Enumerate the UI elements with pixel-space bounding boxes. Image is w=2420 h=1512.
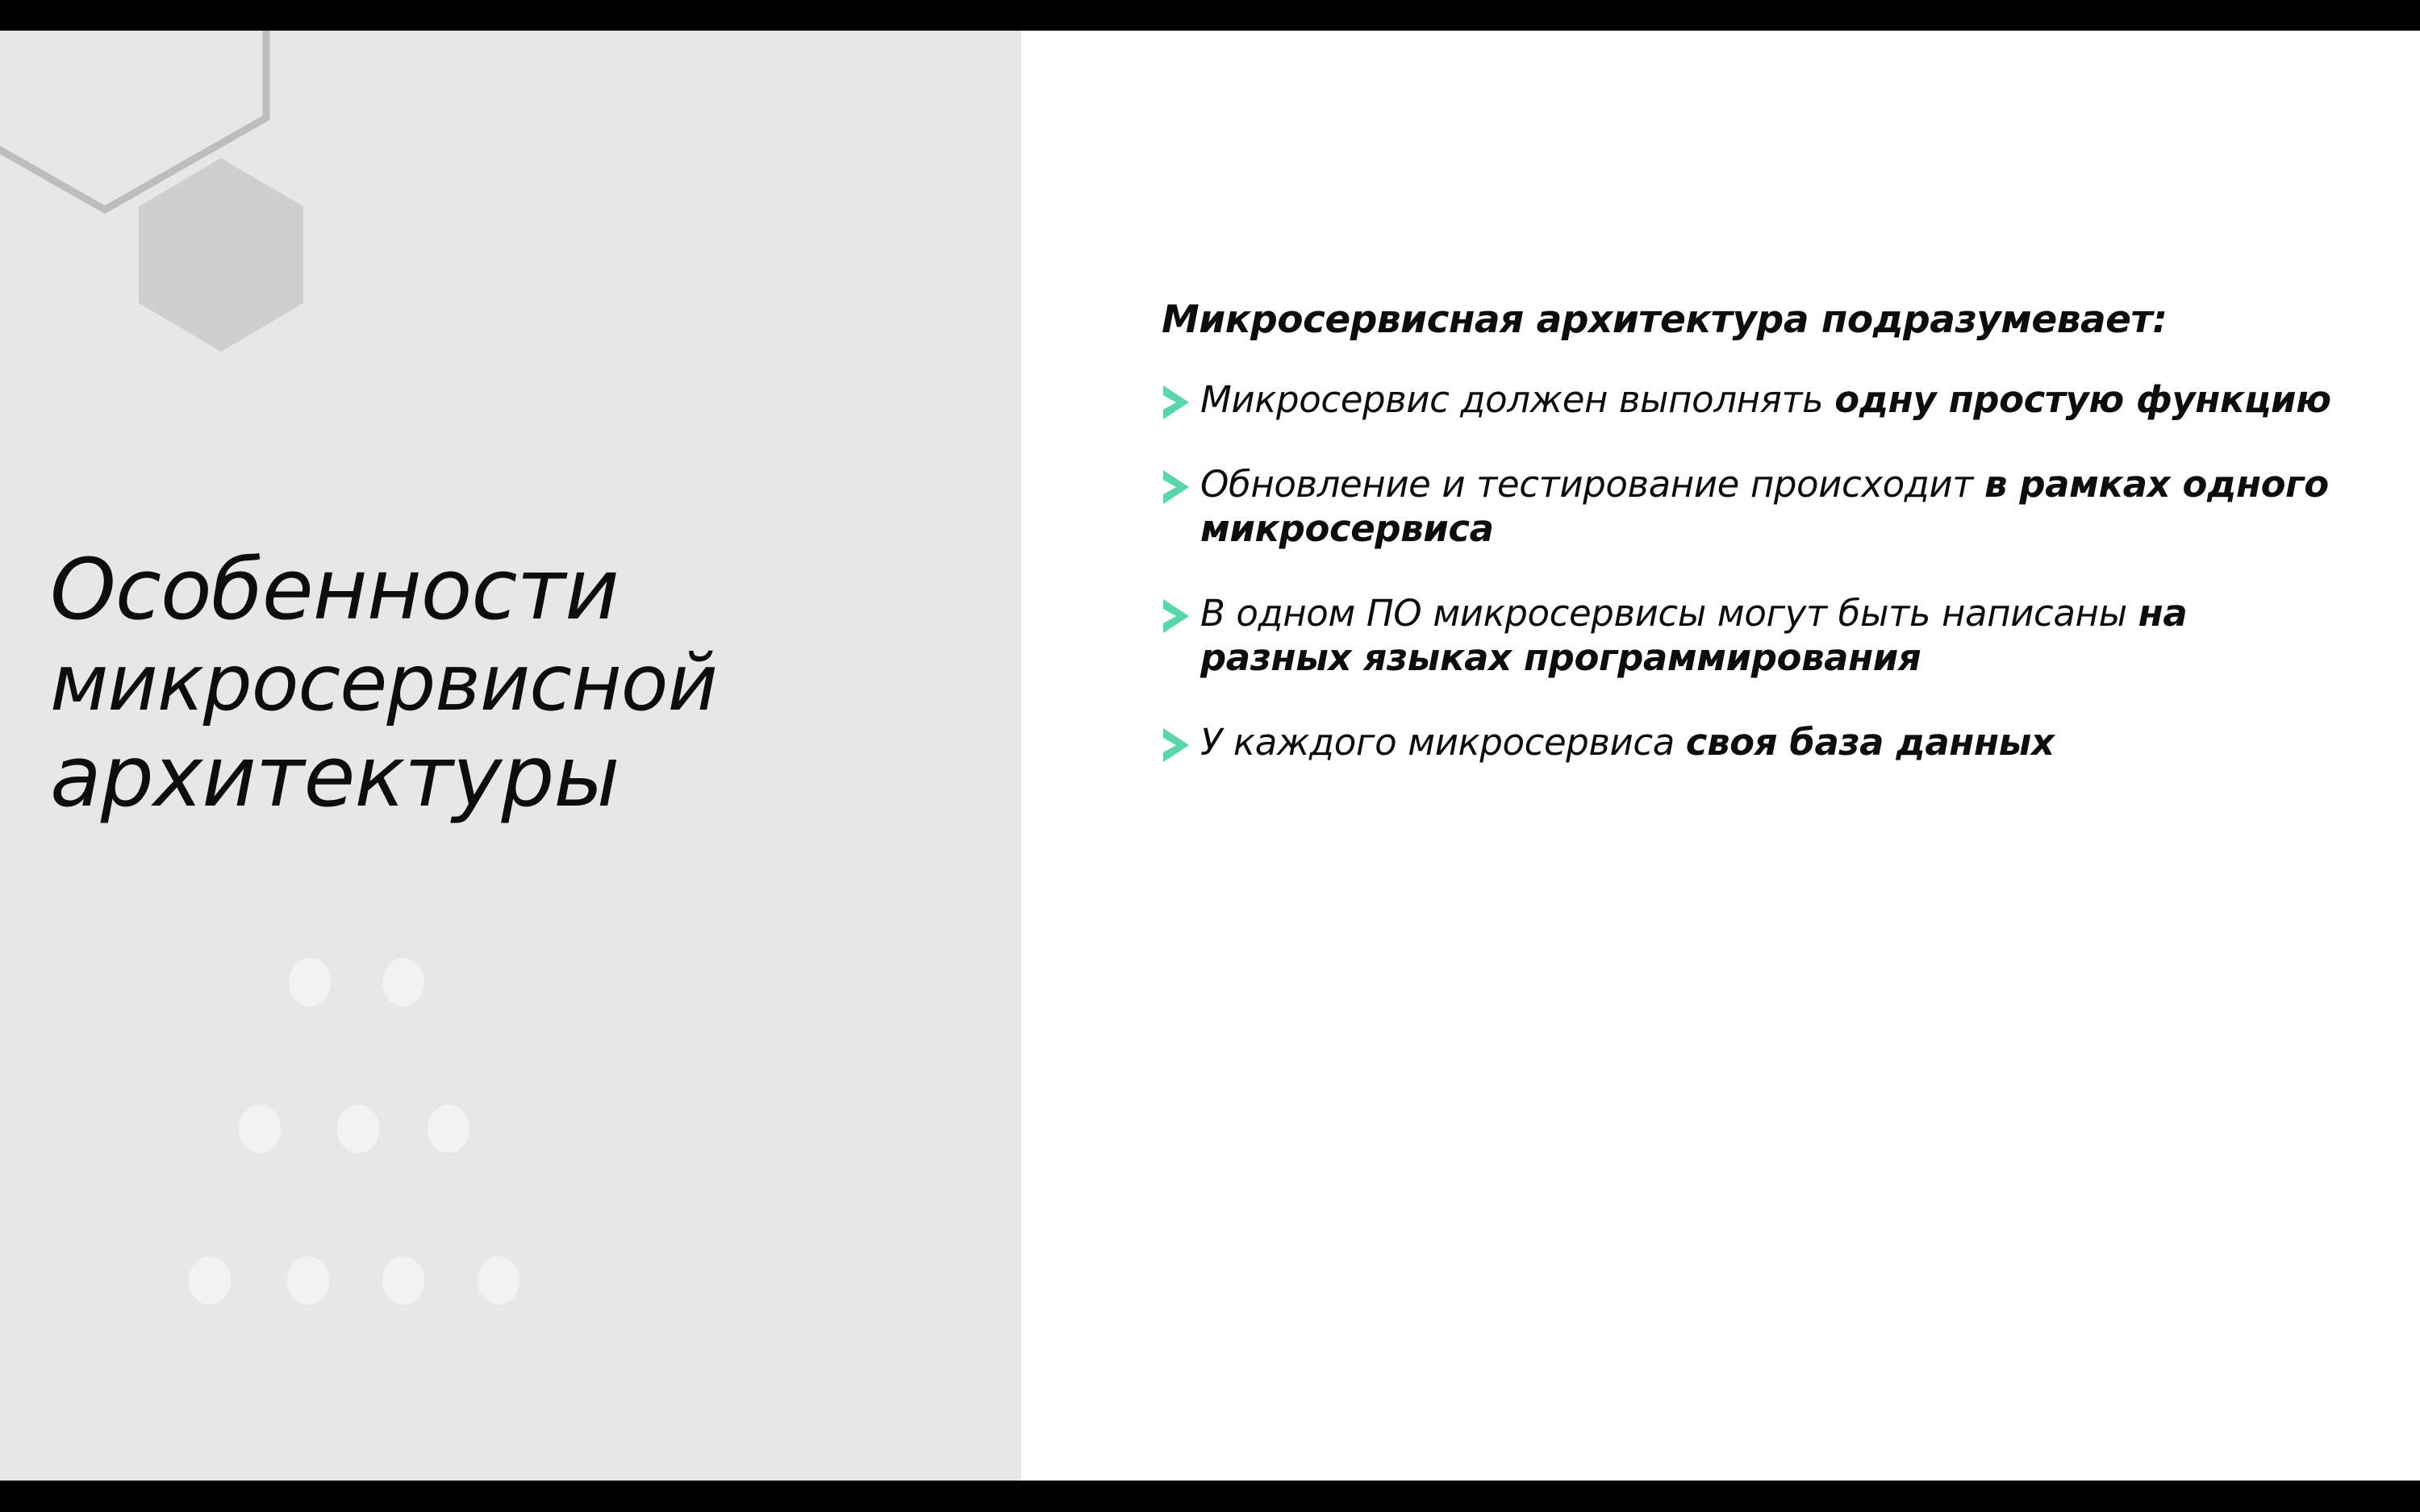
- list-item-text-plain: В одном ПО микросервисы могут быть напис…: [1200, 592, 2138, 635]
- content-heading: Микросервисная архитектура подразумевает…: [1162, 297, 2331, 344]
- content-column: Микросервисная архитектура подразумевает…: [1162, 297, 2331, 764]
- chevron-right-icon: [1162, 384, 1192, 421]
- page-title: Особенности микросервисной архитектуры: [50, 542, 1002, 824]
- list-item-label: Микросервис должен выполнять одну просту…: [1200, 377, 2331, 422]
- dot-grid-pattern: [0, 918, 1021, 1481]
- chevron-right-icon: [1162, 598, 1192, 635]
- page-title-line-2: микросервисной: [50, 639, 1002, 727]
- list-item-label: Обновление и тестирование происходит в р…: [1200, 462, 2331, 551]
- page-title-line-1: Особенности: [50, 542, 1002, 637]
- hexagon-filled-shape: [139, 158, 303, 352]
- list-item-text-plain: Обновление и тестирование происходит: [1200, 463, 1984, 506]
- top-black-bar: [0, 0, 2420, 31]
- list-item: Микросервис должен выполнять одну просту…: [1162, 377, 2331, 422]
- page-title-line-3: архитектуры: [50, 729, 1002, 824]
- chevron-right-icon: [1162, 469, 1192, 506]
- list-item-text-plain: У каждого микросервиса: [1200, 721, 1686, 764]
- chevron-right-icon: [1162, 727, 1192, 764]
- list-item: В одном ПО микросервисы могут быть напис…: [1162, 591, 2331, 680]
- list-item-text-bold: одну простую функцию: [1834, 378, 2330, 421]
- list-item: Обновление и тестирование происходит в р…: [1162, 462, 2331, 551]
- bottom-black-bar: [0, 1481, 2420, 1512]
- list-item-text-bold: своя база данных: [1686, 721, 2055, 764]
- hexagon-decoration-group: [0, 31, 565, 482]
- list-item-text-plain: Микросервис должен выполнять: [1200, 378, 1834, 421]
- slide-canvas: Особенности микросервисной архитектуры М…: [0, 0, 2420, 1512]
- list-item-label: В одном ПО микросервисы могут быть напис…: [1200, 591, 2331, 680]
- list-item: У каждого микросервиса своя база данных: [1162, 720, 2331, 764]
- list-item-label: У каждого микросервиса своя база данных: [1200, 720, 2331, 764]
